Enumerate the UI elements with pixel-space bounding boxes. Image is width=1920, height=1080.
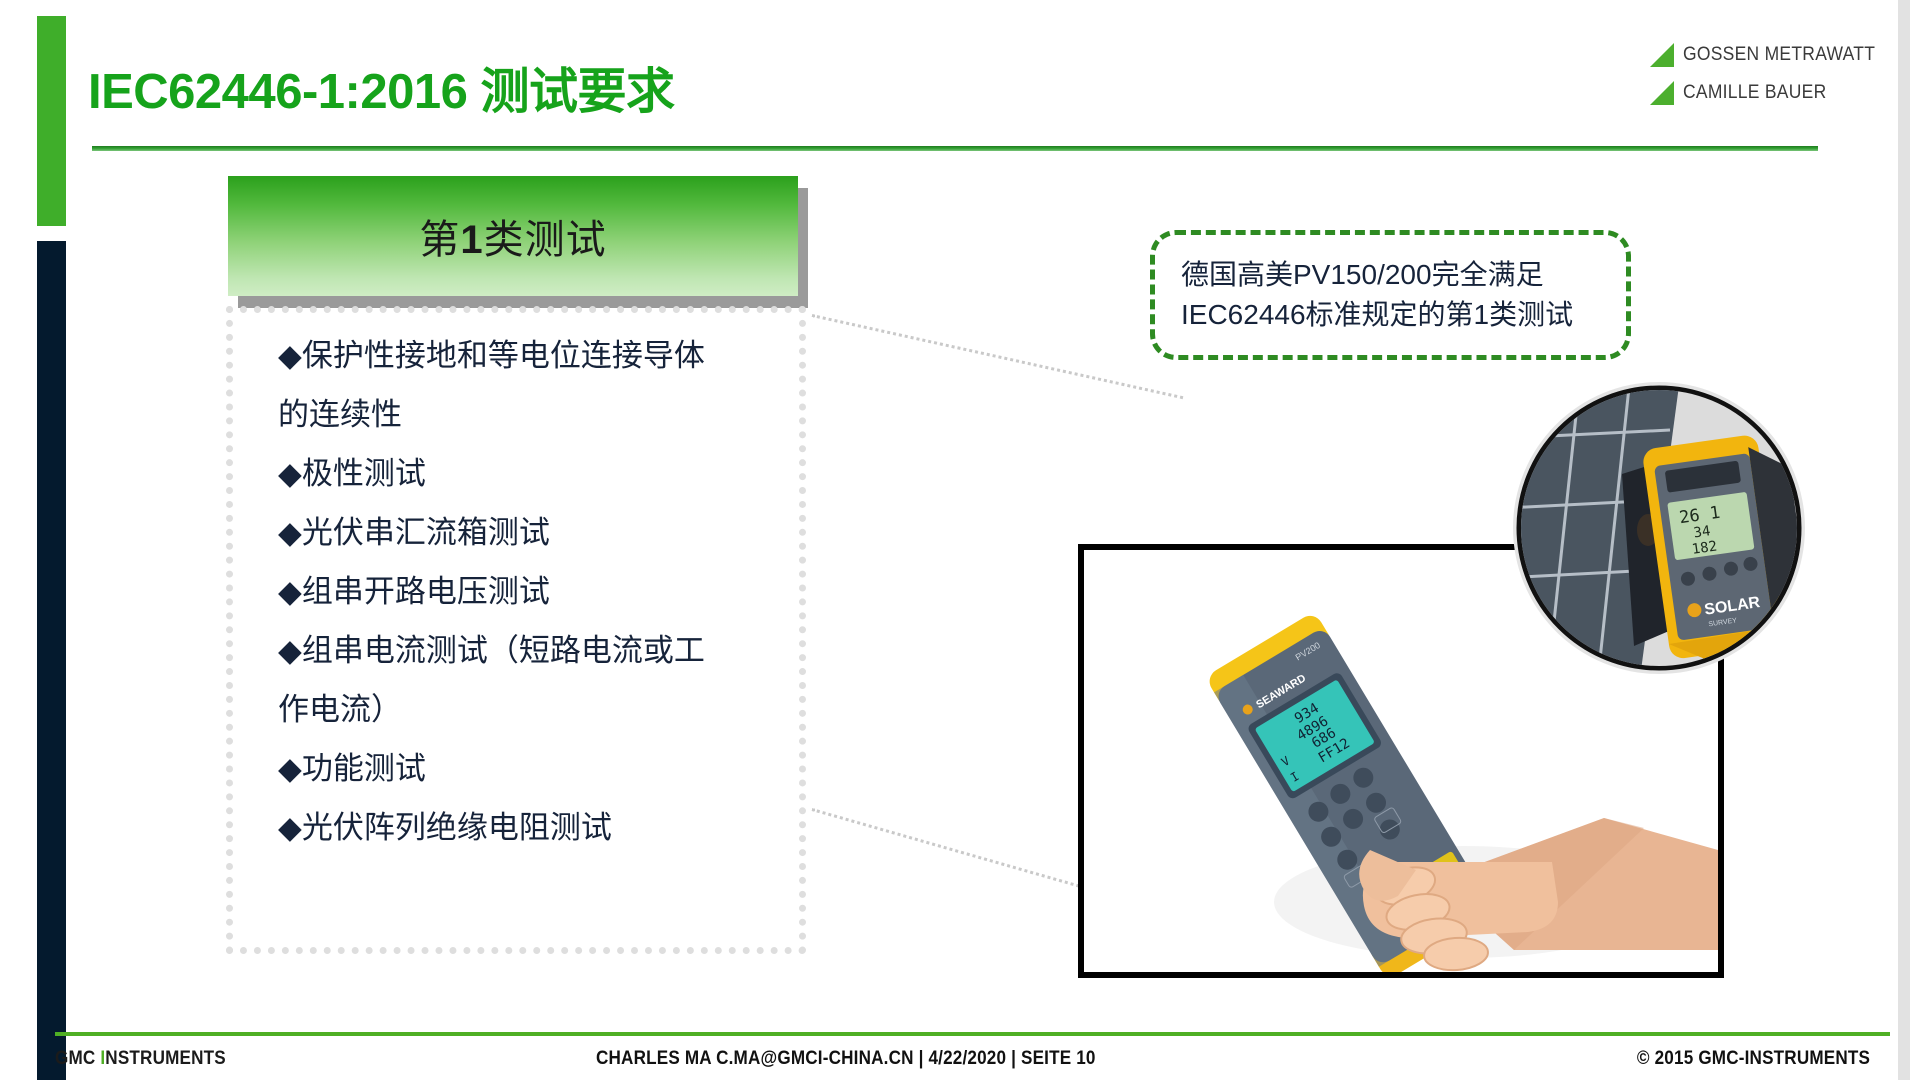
brand-name-camille: CAMILLE BAUER — [1683, 82, 1826, 104]
footer-logo-prefix: GMC — [55, 1048, 100, 1069]
inset-photo-circle: 26 1 34 182 SOLAR SURVEY — [1470, 378, 1848, 678]
slide-canvas: IEC62446-1:2016 测试要求 GOSSEN METRAWATT CA… — [0, 0, 1920, 1080]
bullet-item: ◆光伏串汇流箱测试 — [278, 503, 788, 562]
bullet-item: 的连续性 — [278, 385, 788, 444]
banner-suffix: 类测试 — [484, 217, 607, 263]
bullet-item-label: 组串开路电压测试 — [302, 574, 550, 609]
bullet-diamond-icon: ◆ — [278, 574, 302, 609]
bullet-diamond-icon: ◆ — [278, 810, 302, 845]
bullet-item-label: 光伏阵列绝缘电阻测试 — [302, 810, 612, 845]
bullet-item-label: 保护性接地和等电位连接导体 — [302, 338, 705, 373]
page-title: IEC62446-1:2016 测试要求 — [88, 52, 674, 123]
brand-logo: GOSSEN METRAWATT CAMILLE BAUER — [1648, 36, 1888, 112]
left-accent-bar-green — [37, 16, 66, 226]
brand-row-camille: CAMILLE BAUER — [1648, 74, 1888, 112]
callout-line-1: 德国高美PV150/200完全满足 — [1181, 255, 1626, 295]
bullet-list: ◆保护性接地和等电位连接导体的连续性◆极性测试◆光伏串汇流箱测试◆组串开路电压测… — [278, 326, 788, 857]
category-banner-label: 第1类测试 — [419, 207, 606, 265]
brand-row-gossen: GOSSEN METRAWATT — [1648, 36, 1888, 74]
banner-number: 1 — [460, 218, 483, 262]
bullet-item: ◆保护性接地和等电位连接导体 — [278, 326, 788, 385]
left-accent-bar-dark — [37, 241, 66, 1080]
footer-logo-suffix: NSTRUMENTS — [105, 1048, 226, 1069]
footer-logo: GMC INSTRUMENTS — [55, 1048, 226, 1070]
right-edge-strip — [1898, 0, 1910, 1080]
banner-prefix: 第 — [419, 217, 460, 263]
bullet-item: ◆功能测试 — [278, 739, 788, 798]
category-banner: 第1类测试 — [228, 176, 798, 296]
connector-line-lower — [812, 808, 1080, 888]
bullet-item: ◆组串电流测试（短路电流或工 — [278, 621, 788, 680]
bullet-diamond-icon: ◆ — [278, 456, 302, 491]
bullet-diamond-icon: ◆ — [278, 633, 302, 668]
bullet-item-label: 的连续性 — [278, 397, 402, 432]
title-underline — [92, 146, 1818, 151]
bullet-item: 作电流） — [278, 680, 788, 739]
triangle-icon — [1648, 41, 1676, 69]
bullet-diamond-icon: ◆ — [278, 515, 302, 550]
bullet-diamond-icon: ◆ — [278, 751, 302, 786]
inset-photo: 26 1 34 182 SOLAR SURVEY — [1470, 378, 1848, 678]
footer-meta: CHARLES MA C.MA@GMCI-CHINA.CN | 4/22/202… — [596, 1048, 1096, 1070]
triangle-icon — [1648, 79, 1676, 107]
bullet-diamond-icon: ◆ — [278, 338, 302, 373]
callout-box: 德国高美PV150/200完全满足 IEC62446标准规定的第1类测试 — [1150, 230, 1631, 360]
footer-divider — [55, 1032, 1890, 1036]
bullet-item-label: 作电流） — [278, 692, 402, 727]
connector-line-upper — [812, 314, 1184, 399]
bullet-item: ◆组串开路电压测试 — [278, 562, 788, 621]
brand-name-gossen: GOSSEN METRAWATT — [1683, 44, 1875, 66]
bullet-item-label: 功能测试 — [302, 751, 426, 786]
bullet-item-label: 极性测试 — [302, 456, 426, 491]
bullet-item: ◆光伏阵列绝缘电阻测试 — [278, 798, 788, 857]
callout-line-2: IEC62446标准规定的第1类测试 — [1181, 295, 1626, 335]
bullet-item: ◆极性测试 — [278, 444, 788, 503]
footer-copyright: © 2015 GMC-INSTRUMENTS — [1637, 1048, 1870, 1070]
bullet-item-label: 组串电流测试（短路电流或工 — [302, 633, 705, 668]
bullet-item-label: 光伏串汇流箱测试 — [302, 515, 550, 550]
